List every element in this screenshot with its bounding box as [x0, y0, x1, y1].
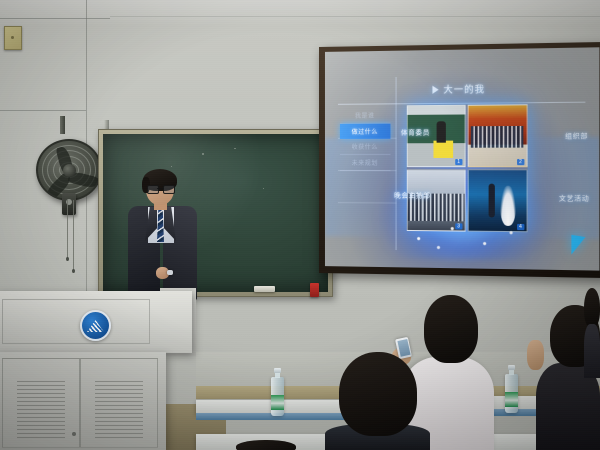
slide-title: 大一的我 — [443, 82, 485, 96]
fan-pull-cord[interactable] — [73, 200, 74, 270]
classroom-photo: 大一的我 我是谁 做过什么 收获什么 未来规划 1 2 3 4 — [0, 0, 600, 450]
slide-sparkle-effect — [389, 217, 543, 254]
audience-hand-to-face — [527, 340, 544, 370]
slide-label-top-right: 组织部 — [565, 130, 588, 140]
audience-head — [584, 288, 600, 328]
university-emblem-icon — [80, 310, 111, 341]
projector-screen[interactable]: 大一的我 我是谁 做过什么 收获什么 未来规划 1 2 3 4 — [325, 47, 599, 270]
slide-label-top-left: 体育委员 — [401, 126, 430, 136]
fan-cord-weight — [72, 269, 75, 273]
audience-head — [339, 352, 417, 436]
wristwatch-icon — [167, 270, 173, 275]
lectern-cabinet[interactable] — [0, 352, 166, 450]
audience-member-edge — [236, 440, 296, 450]
water-bottle[interactable] — [271, 368, 284, 416]
wall-seam — [0, 18, 110, 19]
wall-mounted-fan[interactable] — [36, 139, 102, 201]
slide-photo-2[interactable]: 2 — [467, 104, 527, 167]
wall-seam — [110, 16, 600, 17]
slide-nav-item-0[interactable]: 我是谁 — [339, 107, 390, 123]
cabinet-door-left[interactable] — [2, 358, 80, 448]
wall-seam — [0, 110, 86, 111]
fan-cord-weight — [66, 257, 69, 261]
slide-photo-1-number: 1 — [455, 159, 462, 165]
slide-nav-menu[interactable]: 我是谁 做过什么 收获什么 未来规划 — [339, 107, 390, 171]
red-chalk-box-icon[interactable] — [310, 283, 319, 297]
wall-highlight — [0, 0, 600, 26]
fan-wall-bracket — [60, 116, 65, 134]
wall-plaque-icon — [4, 26, 22, 50]
cabinet-vents — [17, 381, 65, 439]
cabinet-vents — [95, 381, 143, 439]
chevron-right-icon — [432, 85, 438, 93]
student-presenter — [126, 172, 200, 300]
fan-pull-cord[interactable] — [67, 200, 68, 258]
eyeglasses-icon — [147, 185, 173, 193]
chalk-eraser[interactable] — [254, 286, 275, 292]
slide-title-row: 大一的我 — [432, 82, 485, 96]
projector-screen-frame: 大一的我 我是谁 做过什么 收获什么 未来规划 1 2 3 4 — [319, 42, 600, 278]
water-bottle[interactable] — [505, 365, 518, 413]
cabinet-lock-icon[interactable] — [72, 432, 76, 436]
slide-label-bottom-left: 晚会主持部 — [394, 189, 430, 199]
cyan-triangle-icon — [571, 235, 585, 255]
fan-hub — [63, 164, 76, 177]
slide-nav-item-1-active[interactable]: 做过什么 — [339, 123, 390, 138]
audience-top — [584, 324, 600, 378]
slide-nav-item-3[interactable]: 未来规划 — [339, 155, 390, 171]
audience-head — [236, 440, 296, 450]
audience-member-front — [325, 352, 430, 450]
audience-member-far-right — [584, 288, 600, 378]
slide-label-bottom-right: 文艺活动 — [559, 192, 590, 203]
slide-photo-2-number: 2 — [517, 159, 524, 165]
audience-head — [424, 295, 478, 363]
cabinet-door-right[interactable] — [80, 358, 158, 448]
slide-photo-grid: 1 2 3 4 — [406, 104, 527, 232]
fan-cage — [36, 139, 102, 201]
slide-nav-item-2[interactable]: 收获什么 — [339, 138, 390, 154]
